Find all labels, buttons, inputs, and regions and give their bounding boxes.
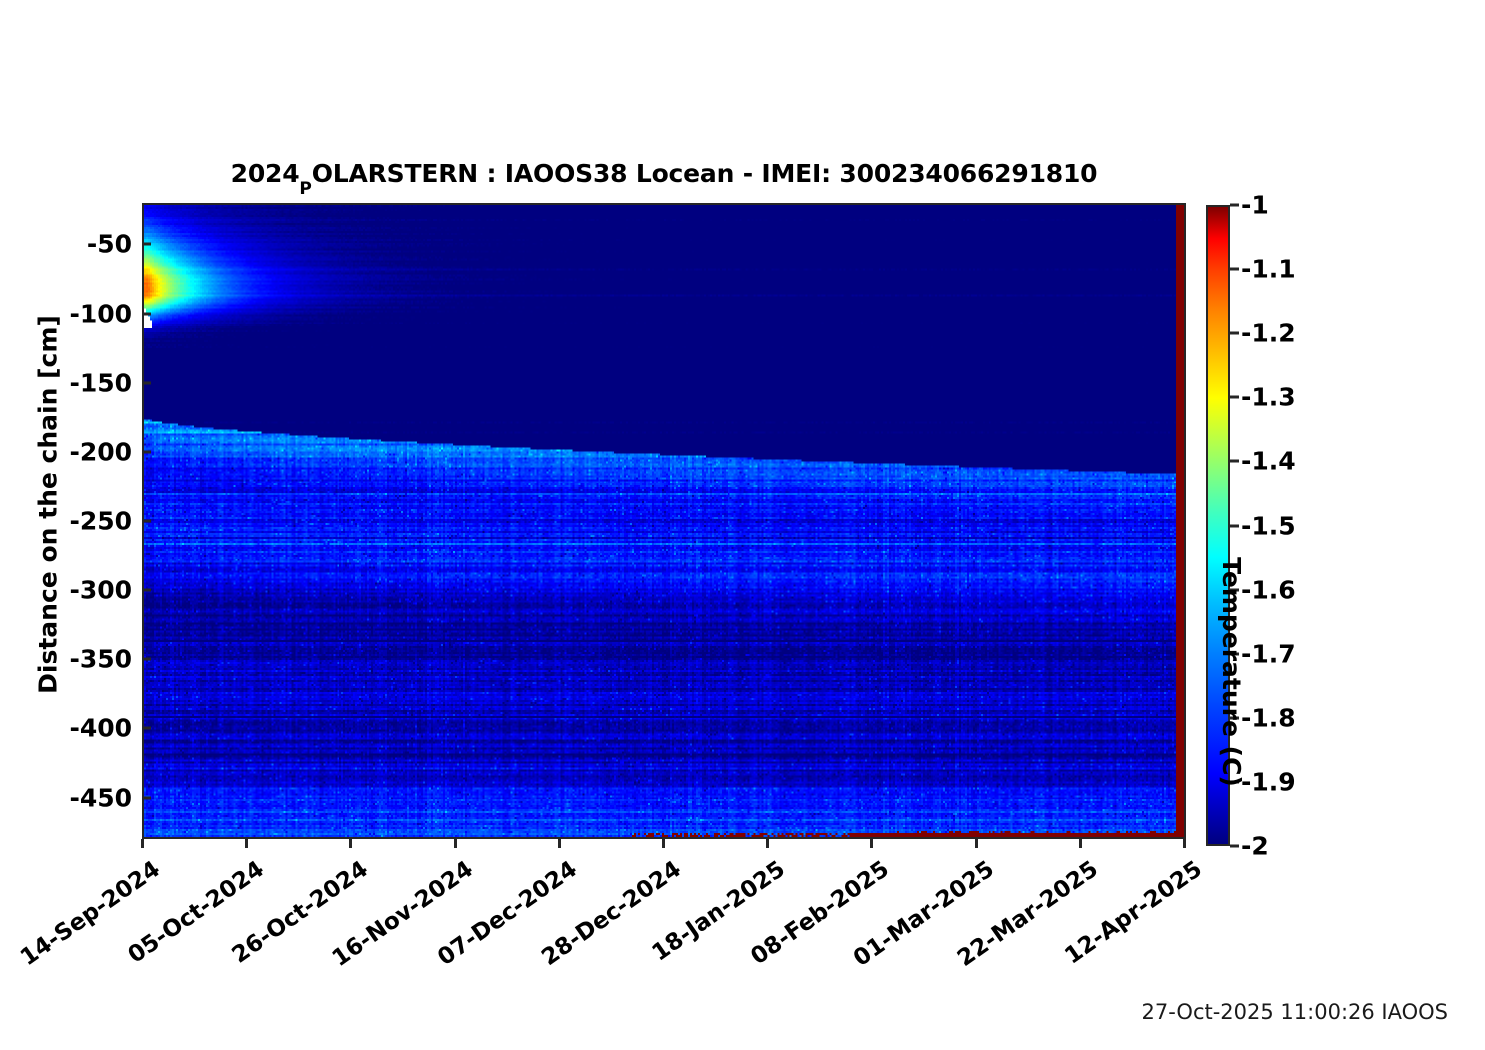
y-tick-mark [142, 381, 151, 384]
y-tick-label: -250 [0, 507, 132, 536]
y-tick-label: -400 [0, 714, 132, 743]
colorbar-tick-label: -1.3 [1241, 383, 1296, 412]
y-tick-mark [142, 312, 151, 315]
y-tick-label: -100 [0, 299, 132, 328]
colorbar-tick-mark [1230, 460, 1239, 463]
colorbar-tick-mark [1230, 332, 1239, 335]
y-tick-mark [142, 450, 151, 453]
x-tick-mark [1183, 839, 1186, 848]
y-tick-mark [142, 727, 151, 730]
colorbar-tick-label: -1.5 [1241, 511, 1296, 540]
colorbar-tick-mark [1230, 204, 1239, 207]
title-subscript: P [299, 179, 311, 199]
x-tick-mark [454, 839, 457, 848]
y-tick-mark [142, 796, 151, 799]
colorbar-tick-label: -1.8 [1241, 703, 1296, 732]
x-tick-mark [349, 839, 352, 848]
colorbar-tick-label: -1.7 [1241, 639, 1296, 668]
heatmap-plot-area[interactable] [142, 203, 1186, 839]
x-tick-mark [558, 839, 561, 848]
y-tick-label: -150 [0, 368, 132, 397]
y-tick-label: -200 [0, 437, 132, 466]
x-tick-mark [766, 839, 769, 848]
colorbar-tick-label: -1.9 [1241, 767, 1296, 796]
heatmap-image [144, 205, 1184, 837]
x-tick-mark [662, 839, 665, 848]
y-tick-label: -450 [0, 783, 132, 812]
y-tick-mark [142, 243, 151, 246]
y-tick-label: -350 [0, 645, 132, 674]
colorbar-tick-label: -1.2 [1241, 319, 1296, 348]
page-title: 2024POLARSTERN : IAOOS38 Locean - IMEI: … [142, 159, 1186, 193]
colorbar-axis-label: Temperature (C) [1217, 512, 1246, 832]
footer-timestamp: 27-Oct-2025 11:00:26 IAOOS [1142, 1000, 1448, 1024]
colorbar-tick-label: -1.6 [1241, 575, 1296, 604]
colorbar-tick-label: -1 [1241, 191, 1269, 220]
y-tick-label: -50 [0, 230, 132, 259]
y-tick-mark [142, 520, 151, 523]
y-tick-label: -300 [0, 576, 132, 605]
x-tick-mark [1079, 839, 1082, 848]
title-suffix: OLARSTERN : IAOOS38 Locean - IMEI: 30023… [312, 159, 1098, 188]
colorbar-tick-label: -2 [1241, 832, 1269, 861]
figure-canvas: 2024POLARSTERN : IAOOS38 Locean - IMEI: … [0, 0, 1485, 1050]
colorbar-tick-label: -1.4 [1241, 447, 1296, 476]
x-tick-mark [870, 839, 873, 848]
x-tick-mark [245, 839, 248, 848]
y-tick-mark [142, 589, 151, 592]
colorbar-tick-label: -1.1 [1241, 255, 1296, 284]
x-tick-mark [975, 839, 978, 848]
y-tick-mark [142, 658, 151, 661]
x-tick-mark [141, 839, 144, 848]
title-prefix: 2024 [231, 159, 300, 188]
colorbar-tick-mark [1230, 396, 1239, 399]
colorbar-tick-mark [1230, 268, 1239, 271]
colorbar-tick-mark [1230, 845, 1239, 848]
